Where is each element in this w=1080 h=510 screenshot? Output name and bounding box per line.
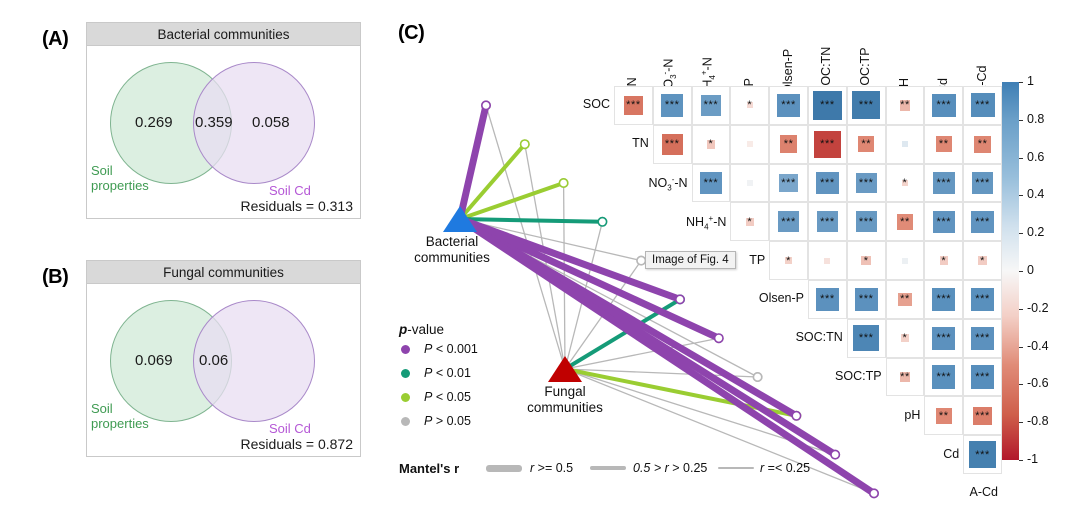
colorbar-tick <box>1019 120 1023 121</box>
matrix-cell-significance: ** <box>924 411 963 422</box>
matrix-cell-significance: *** <box>963 411 1002 422</box>
matrix-row-header-nh4-n: NH4+-N <box>606 214 726 232</box>
matrix-cell-significance: *** <box>847 217 886 228</box>
matrix-cell-significance: *** <box>808 139 847 150</box>
matrix-cell-significance: * <box>886 178 925 189</box>
colorbar-tick <box>1019 233 1023 234</box>
matrix-cell-significance: *** <box>769 217 808 228</box>
pvalue-legend-label: P < 0.01 <box>424 366 471 380</box>
matrix-cell-significance: *** <box>924 333 963 344</box>
colorbar-tick-label: 0.4 <box>1027 187 1044 201</box>
pvalue-legend-label: P < 0.001 <box>424 342 478 356</box>
matrix-row-header-soc-tp: SOC:TP <box>762 369 882 383</box>
matrix-cell-significance: *** <box>924 372 963 383</box>
matrix-cell-significance: *** <box>924 178 963 189</box>
matrix-cell-significance: *** <box>614 100 653 111</box>
matrix-cell-significance: *** <box>653 100 692 111</box>
matrix-cell-significance: *** <box>963 217 1002 228</box>
mantel-legend-title: Mantel's r <box>399 461 459 476</box>
matrix-cell-significance: * <box>963 256 1002 267</box>
matrix-row-header-ph: pH <box>800 408 920 422</box>
node-bacterial-triangle[interactable] <box>443 206 477 232</box>
pvalue-legend-title: p-value <box>399 322 444 337</box>
colorbar-tick <box>1019 195 1023 196</box>
colorbar-tick-label: -0.2 <box>1027 301 1049 315</box>
tooltip-image-of-fig-4: Image of Fig. 4 <box>645 251 736 269</box>
colorbar-tick <box>1019 347 1023 348</box>
colorbar-tick-label: -0.4 <box>1027 339 1049 353</box>
matrix-cell-significance: *** <box>808 100 847 111</box>
pvalue-legend-dot <box>401 393 410 402</box>
matrix-cell-significance: *** <box>847 333 886 344</box>
matrix-cell-square <box>902 141 908 147</box>
colorbar-tick-label: -0.6 <box>1027 376 1049 390</box>
matrix-row-header-a-cd: A-Cd <box>878 485 998 499</box>
colorbar <box>1002 82 1019 460</box>
matrix-cell-significance: *** <box>963 294 1002 305</box>
colorbar-tick <box>1019 422 1023 423</box>
matrix-cell-significance: *** <box>808 217 847 228</box>
mantel-legend-line <box>590 466 626 470</box>
matrix-cell-square <box>747 141 753 147</box>
matrix-cell-significance: *** <box>963 372 1002 383</box>
matrix-cell-significance: * <box>692 139 731 150</box>
pvalue-legend-dot <box>401 417 410 426</box>
colorbar-tick <box>1019 82 1023 83</box>
matrix-row-header-soc-tn: SOC:TN <box>723 330 843 344</box>
matrix-cell-significance: *** <box>963 100 1002 111</box>
matrix-cell-significance: *** <box>808 294 847 305</box>
matrix-cell-significance: * <box>730 217 769 228</box>
matrix-cell-significance: *** <box>769 178 808 189</box>
colorbar-tick <box>1019 309 1023 310</box>
node-fungal-triangle[interactable] <box>548 356 582 382</box>
mantel-legend-line <box>486 465 522 472</box>
matrix-cell-significance: * <box>924 256 963 267</box>
pvalue-legend-label: P > 0.05 <box>424 414 471 428</box>
matrix-cell-significance: *** <box>847 178 886 189</box>
matrix-row-header-soc: SOC <box>490 97 610 111</box>
matrix-cell-significance: ** <box>847 139 886 150</box>
colorbar-tick-label: 0 <box>1027 263 1034 277</box>
matrix-cell-significance: ** <box>769 139 808 150</box>
matrix-cell-significance: *** <box>924 217 963 228</box>
matrix-cell-significance: *** <box>692 100 731 111</box>
colorbar-tick <box>1019 271 1023 272</box>
matrix-cell-significance: *** <box>963 450 1002 461</box>
matrix-cell-significance: * <box>769 256 808 267</box>
pvalue-legend-dot <box>401 369 410 378</box>
colorbar-tick <box>1019 460 1023 461</box>
colorbar-tick-label: 0.6 <box>1027 150 1044 164</box>
matrix-cell-significance: * <box>886 333 925 344</box>
mantel-legend-label: r =< 0.25 <box>760 461 810 475</box>
matrix-cell-significance: * <box>730 100 769 111</box>
matrix-cell-significance: *** <box>924 100 963 111</box>
matrix-cell-significance: *** <box>653 139 692 150</box>
matrix-row-header-cd: Cd <box>839 447 959 461</box>
matrix-cell-significance: ** <box>886 372 925 383</box>
matrix-cell-significance: *** <box>924 294 963 305</box>
matrix-cell-significance: ** <box>924 139 963 150</box>
matrix-row-header-olsen-p: Olsen-P <box>684 291 804 305</box>
matrix-cell-significance: ** <box>886 217 925 228</box>
matrix-cell-square <box>747 180 753 186</box>
matrix-row-header-tn: TN <box>529 136 649 150</box>
matrix-cell-significance: *** <box>847 100 886 111</box>
matrix-cell-significance: *** <box>769 100 808 111</box>
pvalue-legend-label: P < 0.05 <box>424 390 471 404</box>
colorbar-tick-label: -1 <box>1027 452 1038 466</box>
mantel-legend-label: 0.5 > r > 0.25 <box>633 461 707 475</box>
matrix-cell-significance: ** <box>886 100 925 111</box>
node-bacterial-label: Bacterial communities <box>400 234 504 265</box>
matrix-cell-significance: *** <box>847 294 886 305</box>
matrix-cell-significance: *** <box>692 178 731 189</box>
colorbar-tick-label: -0.8 <box>1027 414 1049 428</box>
matrix-cell-significance: * <box>847 256 886 267</box>
mantel-legend-line <box>718 467 754 468</box>
mantel-legend-label: r >= 0.5 <box>530 461 573 475</box>
node-fungal-label: Fungal communities <box>513 384 617 415</box>
matrix-row-header-no3-n: NO3--N <box>568 175 688 193</box>
colorbar-tick <box>1019 158 1023 159</box>
matrix-cell-significance: *** <box>963 178 1002 189</box>
colorbar-tick-label: 0.8 <box>1027 112 1044 126</box>
pvalue-legend-dot <box>401 345 410 354</box>
matrix-cell-square <box>902 258 908 264</box>
matrix-cell-square <box>824 258 830 264</box>
colorbar-tick-label: 1 <box>1027 74 1034 88</box>
colorbar-tick <box>1019 384 1023 385</box>
matrix-cell-significance: *** <box>963 333 1002 344</box>
matrix-cell-significance: ** <box>886 294 925 305</box>
correlation-matrix: TNNO3--NNH4+-NTPOlsen-PSOC:TNSOC:TPpHCdA… <box>0 0 1080 510</box>
matrix-cell-significance: *** <box>808 178 847 189</box>
matrix-cell-significance: ** <box>963 139 1002 150</box>
colorbar-tick-label: 0.2 <box>1027 225 1044 239</box>
